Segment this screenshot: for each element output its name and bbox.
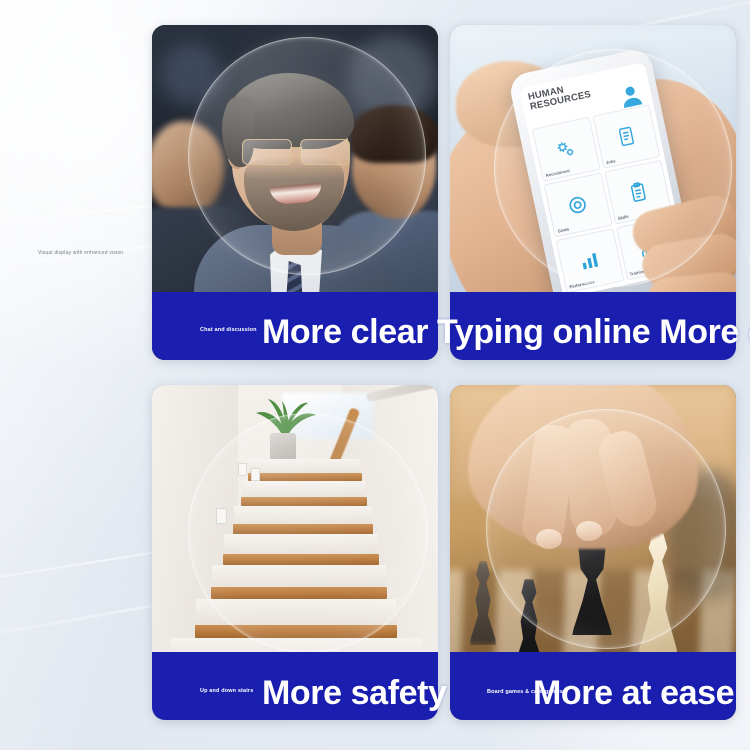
phone-tile-label: Recruitment (545, 168, 570, 178)
caption-bar-chat-discussion (152, 292, 438, 360)
phone-tile-label: Jobs (605, 158, 616, 165)
panel-board-games[interactable] (450, 385, 736, 720)
caption-bar-typing-online (450, 292, 736, 360)
phone-tile-label: Skills (617, 214, 629, 221)
wall-switch (251, 468, 260, 481)
blurred-person-left-head (152, 121, 224, 217)
stair-tread (195, 625, 397, 638)
stair-riser (248, 459, 360, 473)
phone-tile-recruitment[interactable]: Recruitment (532, 117, 600, 182)
stair-tread (223, 554, 379, 565)
stair-riser (196, 599, 396, 625)
phone-tile-goals[interactable]: Goals (544, 172, 612, 237)
product-feature-collage: Visual display with enhanced vision (0, 0, 750, 750)
clipboard-icon (625, 179, 651, 205)
bokeh-light (160, 43, 222, 105)
eyeglasses-icon (240, 137, 364, 167)
caption-bar-board-games (450, 652, 736, 720)
phone-tile-label: Performance (569, 279, 595, 289)
phone-tile-performance[interactable]: Performance (555, 228, 623, 293)
stair-tread (241, 497, 367, 506)
panel-up-down-stairs[interactable] (152, 385, 438, 720)
bar-chart-icon (577, 248, 603, 274)
stair-riser (224, 534, 378, 554)
document-icon (613, 123, 639, 149)
wall-switch (238, 463, 247, 476)
background-note-text: Visual display with enhanced vision (38, 250, 123, 256)
phone-tile-jobs[interactable]: Jobs (592, 104, 660, 169)
eyeglass-lens-right (300, 139, 350, 165)
stair-tread (233, 524, 373, 534)
panel-typing-online[interactable]: HUMAN RESOURCES Recruitment (450, 25, 736, 360)
fingernail (536, 529, 562, 549)
gears-icon (553, 136, 579, 162)
panel-chat-discussion[interactable] (152, 25, 438, 360)
stair-tread (211, 587, 387, 599)
caption-bar-up-down-stairs (152, 652, 438, 720)
stair-riser (212, 565, 386, 587)
stair-riser (234, 506, 372, 524)
fingernail (576, 521, 602, 541)
stair-riser (242, 481, 366, 497)
eyeglass-lens-left (242, 139, 292, 165)
target-icon (565, 192, 591, 218)
wall-light (216, 508, 227, 524)
phone-tile-label: Goals (557, 226, 569, 233)
stair-tread (248, 473, 362, 481)
